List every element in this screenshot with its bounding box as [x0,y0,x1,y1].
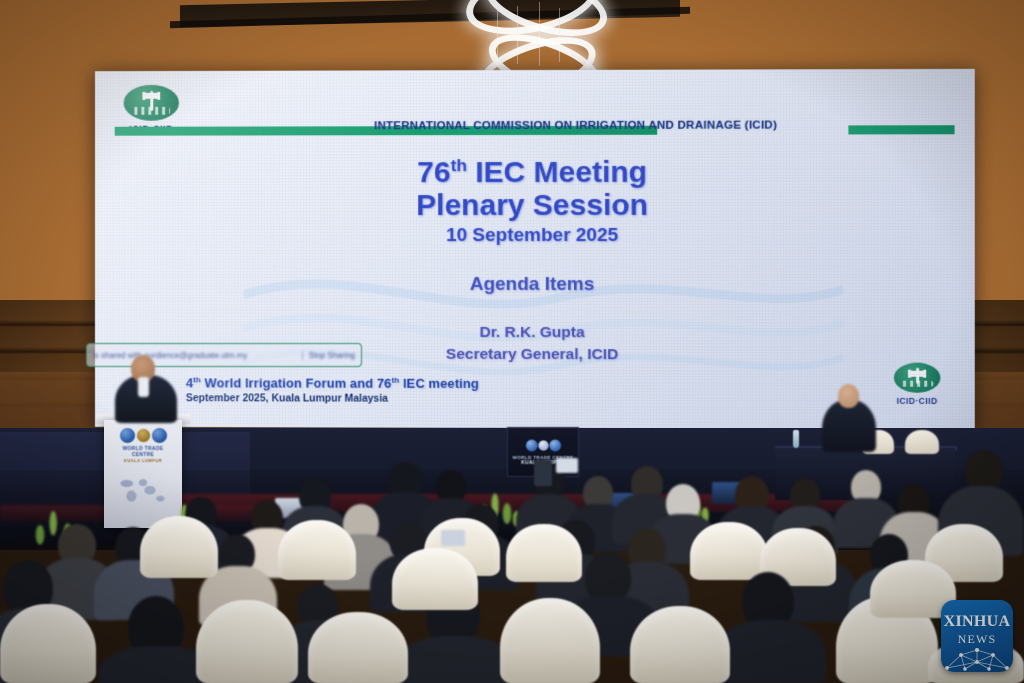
audience-chair [140,516,218,578]
projection-screen: ICID·CIID INTERNATIONAL COMMISSION ON IR… [95,69,975,429]
stop-sharing-button[interactable]: Stop Sharing [302,351,355,360]
slide-green-rule-right [848,125,954,134]
slide-title-line-2: Plenary Session [95,189,975,222]
audience-chair [630,606,730,683]
audience-chair [690,522,768,580]
icid-water-icon [132,107,170,115]
icid-leaf-icon [124,85,179,121]
slide-agenda-heading: Agenda Items [95,274,975,296]
audience-chair [0,604,96,683]
globe-icon-center [538,440,548,450]
globe-icon-right [549,440,561,452]
podium-sign-line1: WORLD TRADE CENTRE [114,446,172,458]
slide-footer-location: September 2025, Kuala Lumpur Malaysia [186,393,886,407]
audience-chair [196,600,298,683]
conference-photo: ICID·CIID INTERNATIONAL COMMISSION ON IR… [0,0,1024,683]
audience-chair [506,524,582,582]
audience-chair [392,548,478,610]
screen-share-bar[interactable]: is shared with ourdience@graduate.utm.my… [86,343,362,367]
slide-footer-event: 4th World Irrigation Forum and 76th IEC … [186,375,886,392]
slide-organisation-line: INTERNATIONAL COMMISSION ON IRRIGATION A… [311,119,842,132]
audience-chair [500,598,600,683]
slide-footer: 4th World Irrigation Forum and 76th IEC … [186,375,886,406]
globe-icon-right [152,428,167,443]
slide-speaker-name: Dr. R.K. Gupta [95,322,975,344]
podium-sign-line2: KUALA LUMPUR [114,458,172,463]
water-bottle [793,430,799,448]
icid-logo-bottom-right: ICID·CIID [878,363,957,406]
phone-camera [556,458,578,473]
icid-leaf-icon-right [894,363,941,393]
head-table-chair [905,430,939,454]
watermark-line-1: XINHUA [941,613,1013,631]
audience-chair [278,520,356,580]
globe-icon-center [136,429,149,442]
screen-share-status: is shared with ourdience@graduate.utm.my [93,351,296,360]
audience-chair [308,612,408,683]
icid-logo-label-right: ICID·CIID [878,396,957,406]
xinhua-news-watermark: XINHUA NEWS [941,600,1013,672]
phone-camera [534,460,552,486]
wtc-globe-icons [114,428,172,443]
slide-title-line-1: 76th IEC Meeting [95,155,975,190]
phone-camera [441,530,465,546]
slide-date: 10 September 2025 [95,225,975,247]
network-graphic-icon [941,644,1013,672]
globe-icon-left [525,440,537,452]
wtc-globe-icons-center [525,440,560,452]
icid-water-icon-right [901,381,933,387]
globe-icon-left [120,428,135,443]
